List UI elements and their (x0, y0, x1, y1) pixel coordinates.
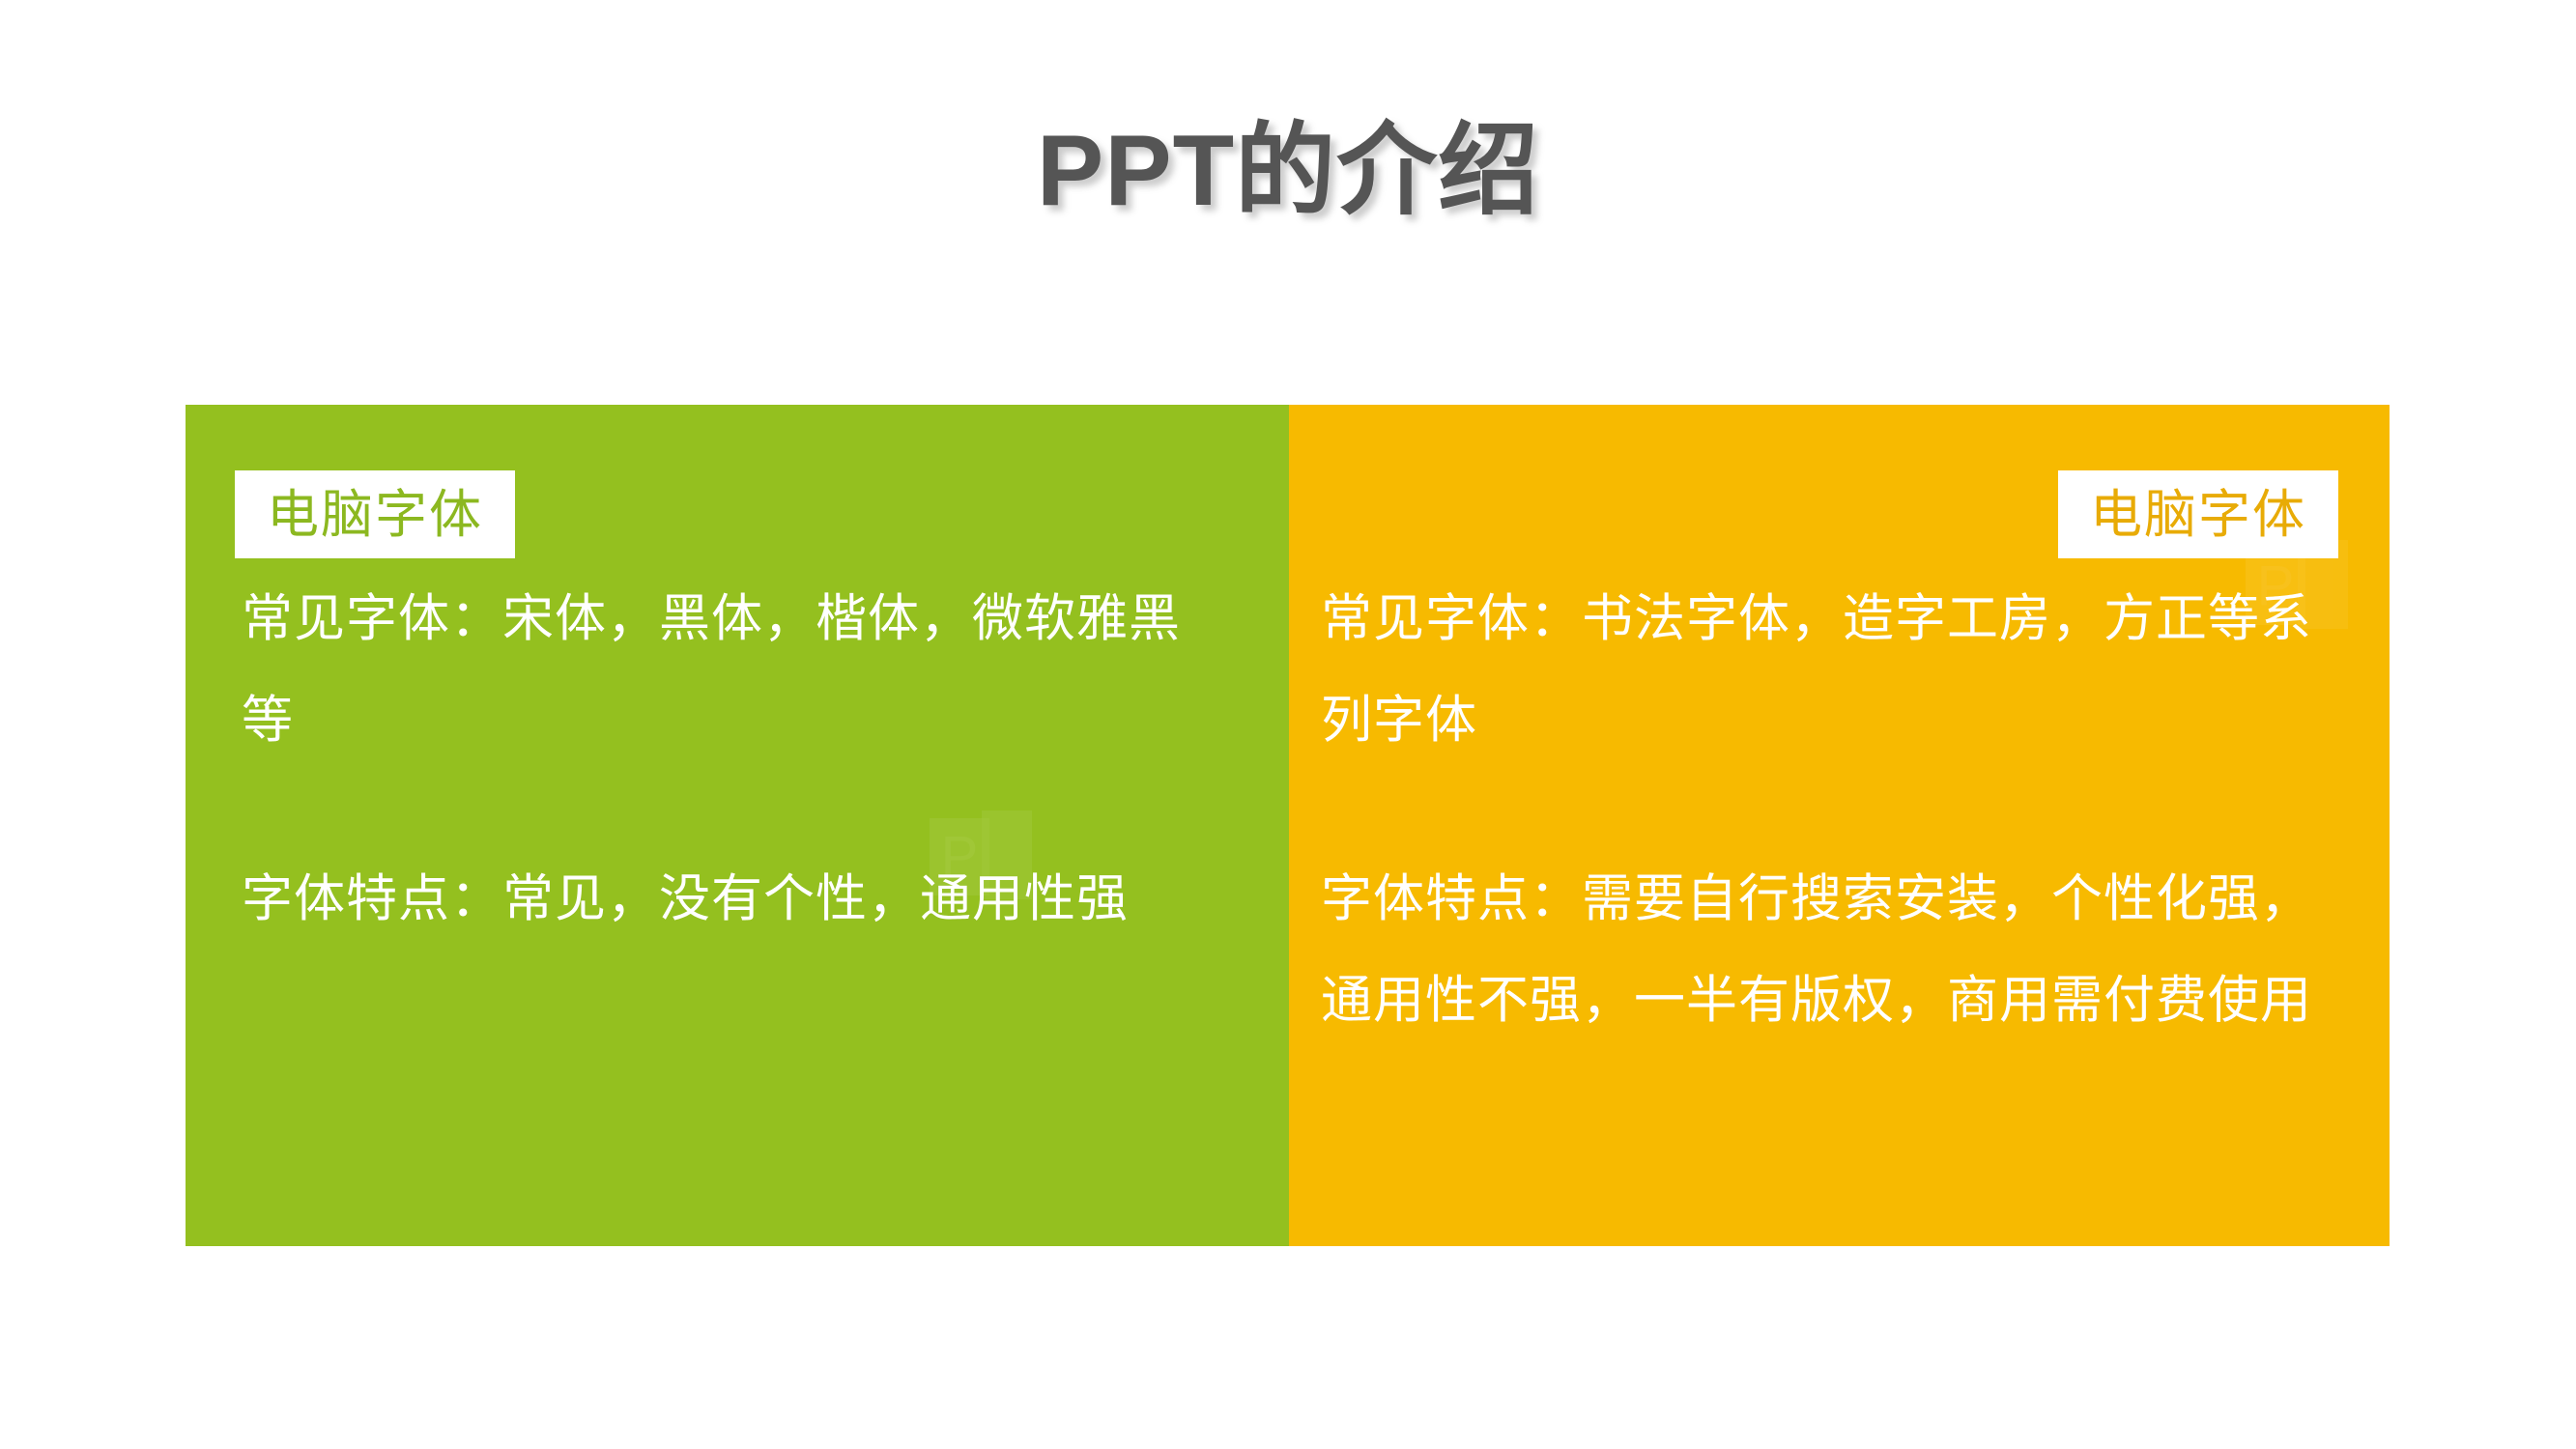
panel-green-paragraph-2: 字体特点：常见，没有个性，通用性强 (242, 849, 1217, 951)
panel-green: 电脑字体 常见字体：宋体，黑体，楷体，微软雅黑等 字体特点：常见，没有个性，通用… (186, 405, 1289, 1246)
panel-orange: 电脑字体 常见字体：书法字体，造字工房，方正等系列字体 字体特点：需要自行搜索安… (1289, 405, 2390, 1246)
panel-green-body: 常见字体：宋体，黑体，楷体，微软雅黑等 字体特点：常见，没有个性，通用性强 (242, 569, 1217, 951)
panel-green-paragraph-1: 常见字体：宋体，黑体，楷体，微软雅黑等 (242, 569, 1217, 772)
panel-green-badge: 电脑字体 (235, 470, 515, 558)
panel-orange-paragraph-2: 字体特点：需要自行搜索安装，个性化强，通用性不强，一半有版权，商用需付费使用 (1321, 849, 2326, 1052)
paragraph-spacer (242, 772, 1217, 849)
panel-orange-paragraph-1: 常见字体：书法字体，造字工房，方正等系列字体 (1321, 569, 2326, 772)
comparison-panels: 电脑字体 常见字体：宋体，黑体，楷体，微软雅黑等 字体特点：常见，没有个性，通用… (186, 405, 2390, 1246)
panel-orange-badge: 电脑字体 (2058, 470, 2338, 558)
page-title: PPT的介绍 (0, 116, 2576, 226)
paragraph-spacer (1321, 772, 2326, 849)
panel-orange-body: 常见字体：书法字体，造字工房，方正等系列字体 字体特点：需要自行搜索安装，个性化… (1321, 569, 2326, 1052)
